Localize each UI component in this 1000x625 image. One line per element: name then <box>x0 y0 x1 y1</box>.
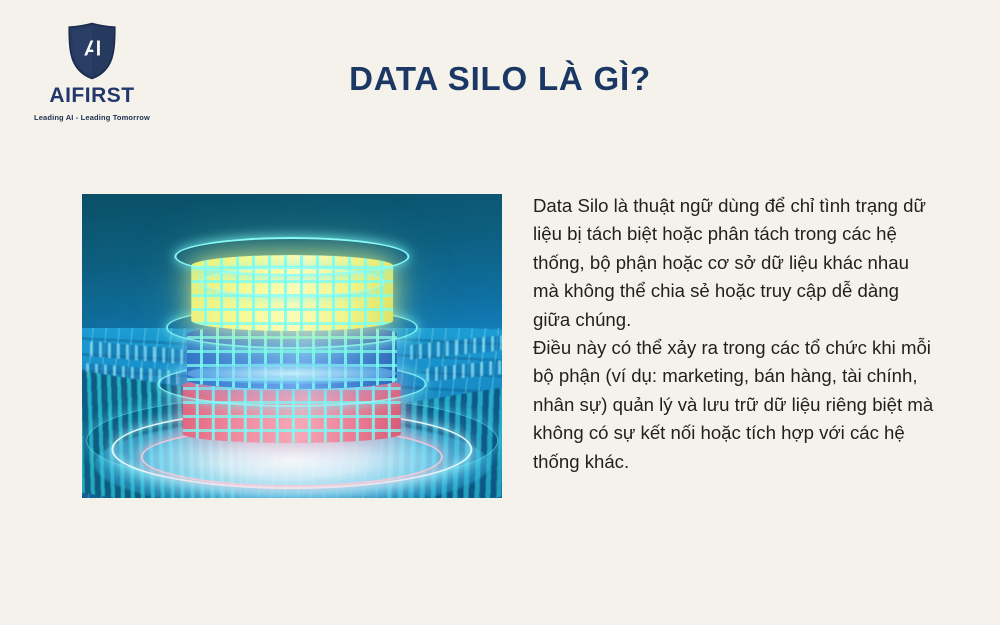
page-title: DATA SILO LÀ GÌ? <box>0 60 1000 98</box>
article-body-text: Data Silo là thuật ngữ dùng để chỉ tình … <box>533 192 939 476</box>
illustration-scene <box>82 194 502 498</box>
data-silo-illustration <box>82 194 502 498</box>
brand-tagline: Leading AI - Leading Tomorrow <box>22 113 162 122</box>
